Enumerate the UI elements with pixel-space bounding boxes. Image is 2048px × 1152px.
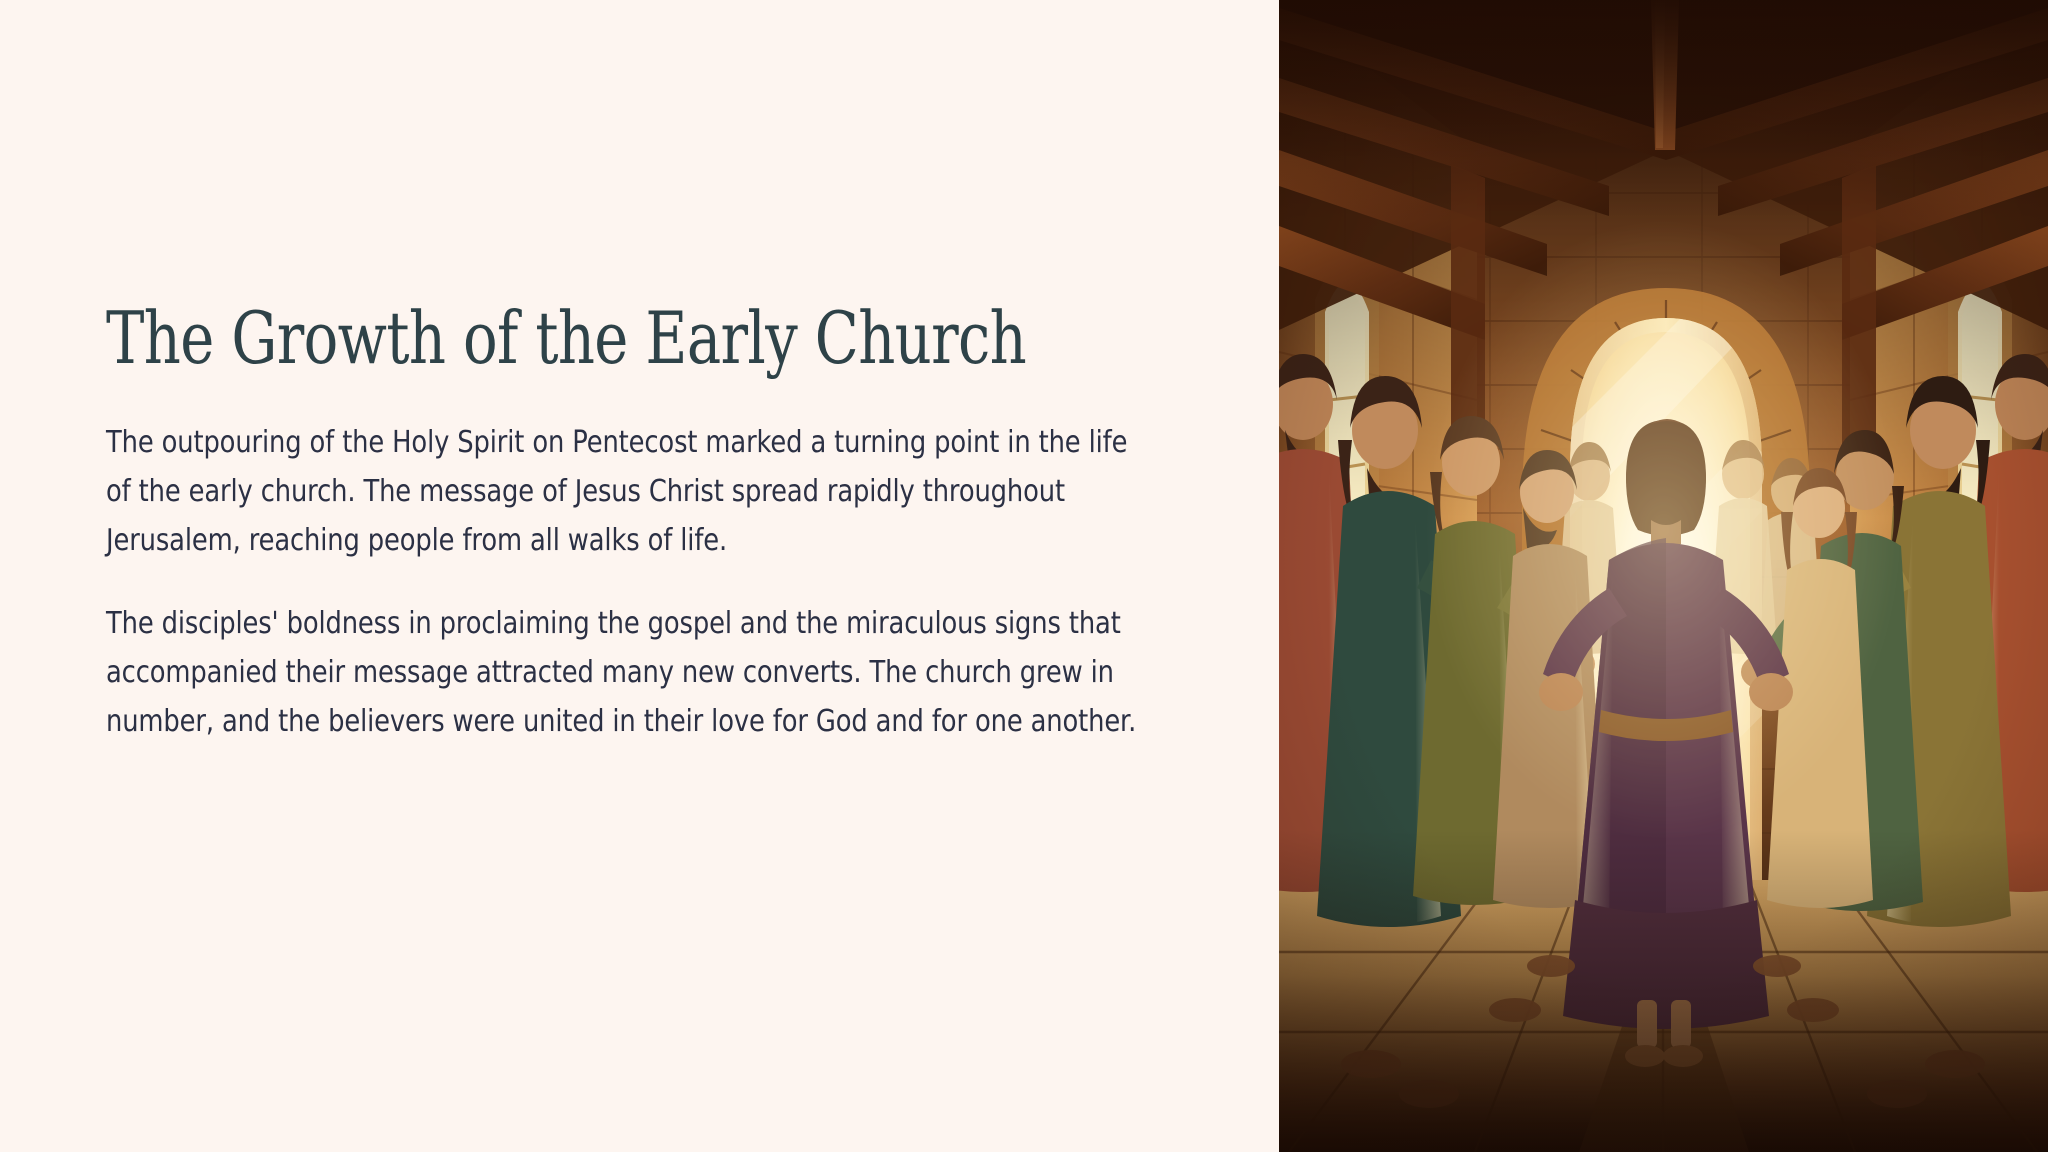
body-copy: The outpouring of the Holy Spirit on Pen… — [106, 418, 1161, 746]
circle-of-believers — [1279, 0, 2048, 1152]
text-panel: The Growth of the Early Church The outpo… — [0, 0, 1279, 1152]
slide-root: The Growth of the Early Church The outpo… — [0, 0, 2048, 1152]
body-paragraph-1: The outpouring of the Holy Spirit on Pen… — [106, 418, 1158, 565]
body-paragraph-2: The disciples' boldness in proclaiming t… — [106, 599, 1158, 746]
illustration-early-church — [1279, 0, 2048, 1152]
page-title: The Growth of the Early Church — [106, 300, 970, 378]
text-content-block: The Growth of the Early Church The outpo… — [106, 300, 1186, 746]
